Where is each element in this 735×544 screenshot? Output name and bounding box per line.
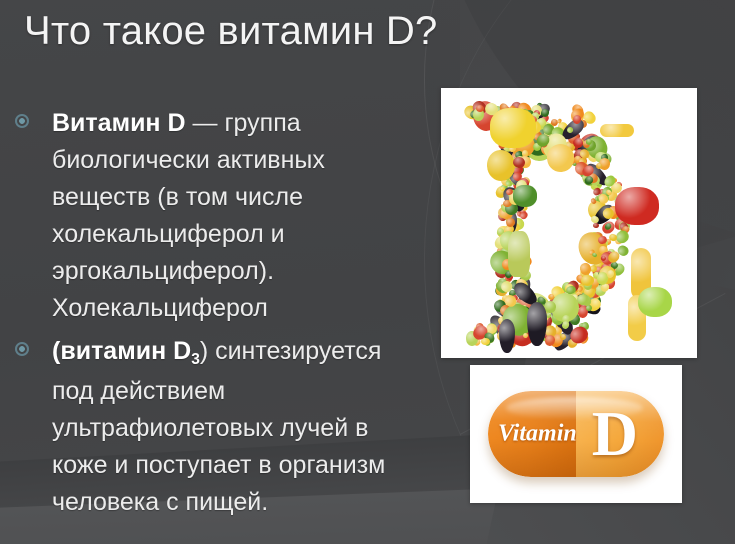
bullet-1-body: — группа биологически активных веществ (… [52, 109, 325, 322]
produce-piece-hero [513, 185, 537, 207]
produce-piece [580, 275, 593, 286]
bullet-list: Витамин D — группа биологически активных… [12, 105, 424, 527]
food-letter-mosaic [441, 88, 697, 358]
produce-piece [486, 149, 515, 182]
ring-bullet-icon [15, 114, 29, 128]
image-vitamin-capsule: Vitamin D [470, 365, 682, 503]
bullet-1-lead: Витамин D [52, 109, 186, 137]
page-title: Что такое витамин D? [24, 8, 624, 55]
ring-bullet-icon [15, 342, 29, 356]
produce-piece [592, 223, 598, 229]
subscript-three: 3 [191, 351, 200, 368]
produce-piece-hero [600, 124, 634, 137]
produce-piece-hero [615, 187, 659, 225]
bullet-text-1: Витамин D — группа биологически активных… [52, 105, 424, 327]
capsule-letter-label: D [592, 402, 638, 466]
produce-piece-hero [508, 231, 530, 277]
produce-piece [506, 217, 516, 227]
capsule-graphic: Vitamin D [488, 391, 664, 477]
capsule-word-label: Vitamin [498, 421, 576, 448]
bullet-text-2: (витамин D3) синтезируется под действием… [52, 333, 424, 521]
produce-piece-hero [638, 287, 672, 317]
image-food-letter-d [441, 88, 697, 358]
list-item: Витамин D — группа биологически активных… [12, 105, 424, 327]
list-item: (витамин D3) синтезируется под действием… [12, 333, 424, 521]
produce-piece-hero [490, 108, 536, 148]
produce-piece [523, 333, 528, 338]
bullet-2-subscript: 3 [191, 337, 200, 365]
bullet-2-lead: витамин D [60, 337, 191, 365]
slide: Что такое витамин D? Витамин D — группа … [0, 0, 735, 544]
